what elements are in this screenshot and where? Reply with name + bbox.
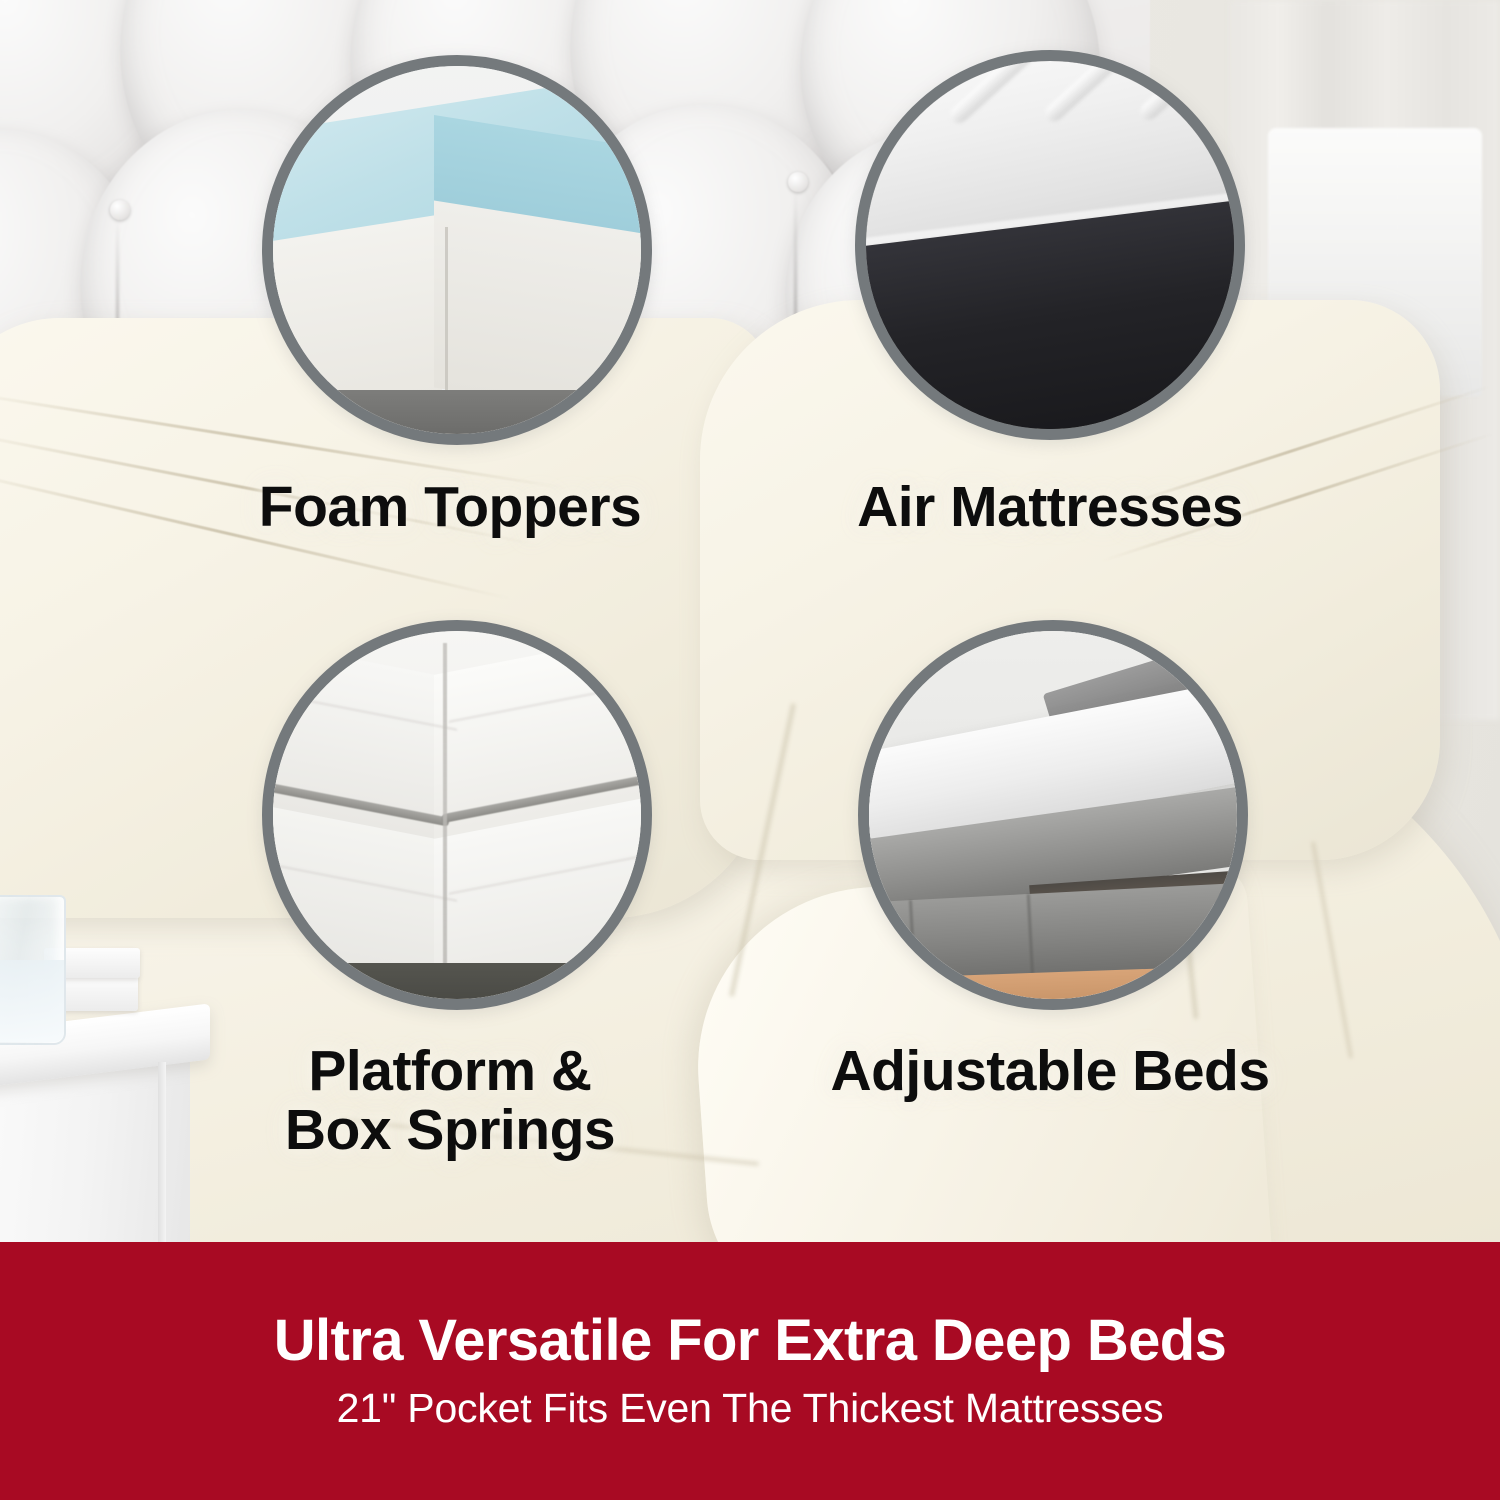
callout-circle-air-mattresses xyxy=(855,50,1245,440)
bottom-banner: Ultra Versatile For Extra Deep Beds 21" … xyxy=(0,1242,1500,1500)
callout-circle-foam-toppers xyxy=(262,55,652,445)
callout-label-platform-box-springs: Platform & Box Springs xyxy=(200,1042,700,1159)
callout-circle-adjustable-beds xyxy=(858,620,1248,1010)
water-glass-fill xyxy=(0,960,64,1042)
nightstand-edge xyxy=(158,1062,166,1254)
callout-label-foam-toppers: Foam Toppers xyxy=(210,478,690,537)
foam-topper-photo xyxy=(262,55,652,445)
callout-label-adjustable-beds: Adjustable Beds xyxy=(790,1042,1310,1101)
banner-subheadline: 21" Pocket Fits Even The Thickest Mattre… xyxy=(337,1386,1164,1431)
box-spring-photo xyxy=(262,620,652,1010)
air-mattress-photo xyxy=(855,50,1245,440)
adjustable-bed-photo xyxy=(858,620,1248,1010)
callout-circle-platform-box-springs xyxy=(262,620,652,1010)
callout-label-air-mattresses: Air Mattresses xyxy=(800,478,1300,537)
banner-headline: Ultra Versatile For Extra Deep Beds xyxy=(274,1311,1227,1372)
